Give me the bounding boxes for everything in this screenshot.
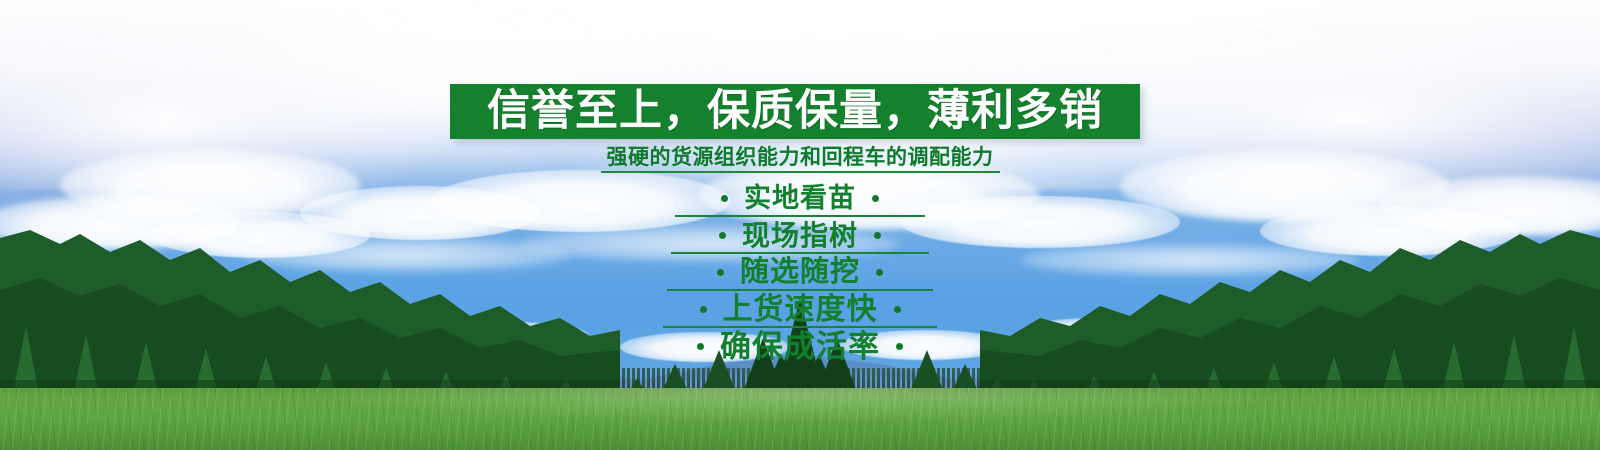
dot-bullet-icon	[894, 306, 901, 313]
subtitle: 强硬的货源组织能力和回程车的调配能力	[0, 146, 1600, 173]
feature-label: 随选随挖	[740, 258, 860, 287]
feature-item: 上货速度快	[590, 291, 1010, 328]
treeline-right	[980, 230, 1600, 410]
headline-band: 信誉至上，保质保量，薄利多销	[450, 84, 1140, 139]
dot-bullet-icon	[697, 343, 704, 350]
feature-item: 实地看苗	[590, 180, 1010, 217]
dot-bullet-icon	[719, 232, 726, 239]
feature-item: 确保成活率	[590, 328, 1010, 365]
feature-label: 现场指树	[742, 222, 858, 250]
dot-bullet-icon	[717, 269, 724, 276]
dot-bullet-icon	[872, 195, 879, 202]
dot-bullet-icon	[700, 306, 707, 313]
feature-item: 现场指树	[590, 217, 1010, 254]
feature-label: 上货速度快	[723, 295, 878, 325]
subtitle-text: 强硬的货源组织能力和回程车的调配能力	[601, 146, 1000, 173]
promo-banner: 信誉至上，保质保量，薄利多销 强硬的货源组织能力和回程车的调配能力 实地看苗 现…	[0, 0, 1600, 450]
dot-bullet-icon	[896, 343, 903, 350]
dot-bullet-icon	[876, 269, 883, 276]
feature-list: 实地看苗 现场指树 随选随挖 上货速度快 确保成活率	[590, 180, 1010, 365]
feature-label: 确保成活率	[720, 331, 880, 362]
dot-bullet-icon	[721, 195, 728, 202]
headline-text: 信誉至上，保质保量，薄利多销	[487, 90, 1103, 133]
treeline-left	[0, 230, 620, 410]
field-highlight	[0, 388, 1600, 450]
dot-bullet-icon	[874, 232, 881, 239]
feature-item: 随选随挖	[590, 254, 1010, 291]
feature-label: 实地看苗	[744, 185, 856, 212]
